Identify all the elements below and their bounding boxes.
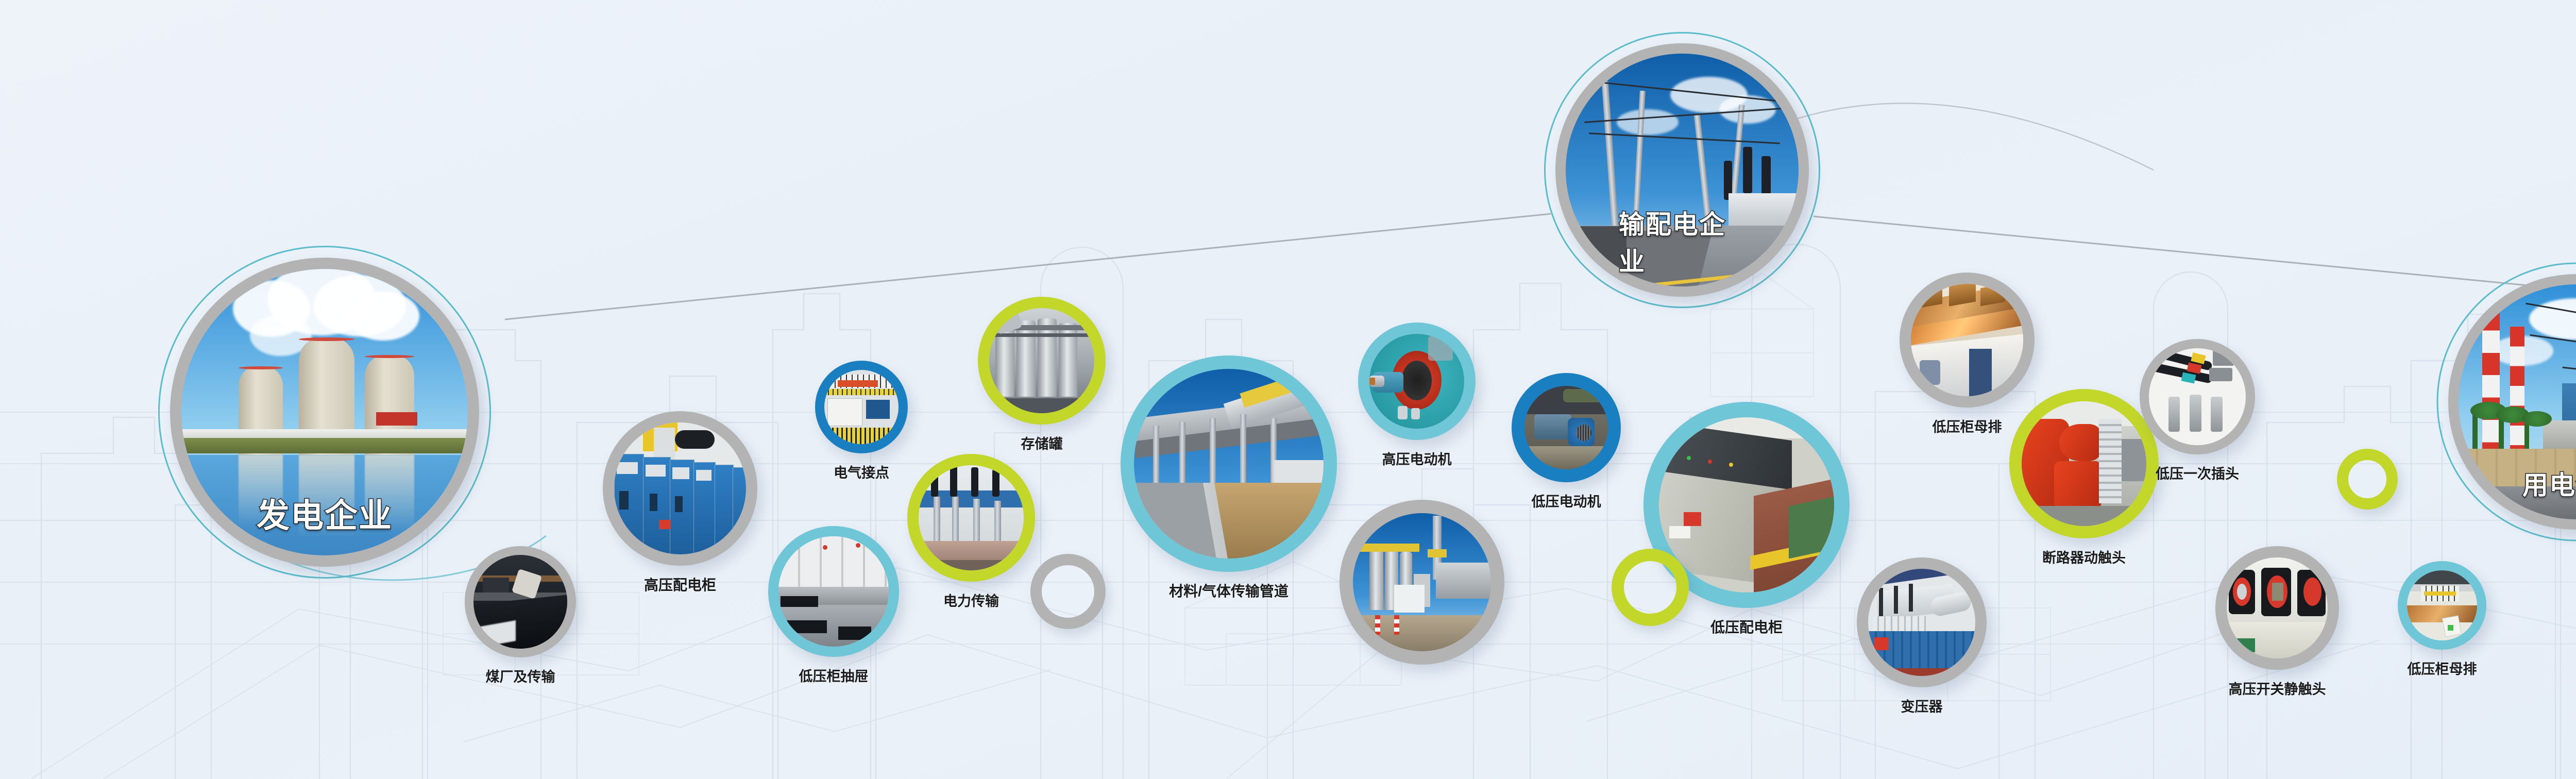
node-label: 变压器	[1901, 696, 1943, 716]
node-electrical-contact[interactable]: 电气接点	[815, 361, 908, 453]
photo-transformer-yard	[1868, 569, 1975, 676]
hero-disc[interactable]: 发电企业	[170, 258, 479, 567]
node-coal-plant-transport[interactable]: 煤厂及传输	[465, 546, 576, 657]
node-disc[interactable]	[815, 361, 908, 453]
hero-node-power-generation[interactable]: 发电企业	[170, 258, 479, 567]
node-disc[interactable]	[1121, 355, 1337, 572]
node-breaker-moving-contact[interactable]: 断路器动触头	[2009, 389, 2159, 538]
node-label: 低压柜母排	[1933, 416, 2002, 436]
node-label: 材料/气体传输管道	[1169, 580, 1289, 601]
hero-title-transmission-distribution: 输配电企业	[1619, 204, 1745, 278]
photo-terminal-block	[824, 370, 899, 444]
photo-busbar-strip	[2407, 570, 2477, 640]
photo-blue-cabinets	[614, 422, 746, 554]
node-chemical-plant[interactable]	[1340, 500, 1504, 665]
ring-shape	[1612, 549, 1689, 626]
node-hv-switch-static-contact[interactable]: 高压开关静触头	[2215, 546, 2339, 670]
photo-small-motor	[1524, 386, 1608, 469]
node-lv-cabinet-busbar-right[interactable]: 低压柜母排	[2398, 561, 2486, 650]
node-label: 高压开关静触头	[2229, 678, 2326, 698]
photo-red-breaker	[2022, 401, 2146, 526]
node-lv-motor[interactable]: 低压电动机	[1512, 373, 1621, 482]
node-label: 低压一次插头	[2156, 463, 2239, 483]
photo-lv-drawer	[778, 536, 889, 647]
node-lv-cabinet-drawer[interactable]: 低压柜抽屉	[768, 526, 899, 657]
node-disc[interactable]	[907, 454, 1035, 582]
node-disc[interactable]	[1340, 500, 1504, 665]
ring-shape	[2337, 449, 2398, 510]
hero-node-transmission-distribution[interactable]: 输配电企业	[1555, 43, 1809, 297]
photo-tanks	[989, 308, 1094, 413]
node-lv-cabinet-busbar-top[interactable]: 低压柜母排	[1900, 273, 2035, 408]
hero-node-power-consumer[interactable]: 用电企业	[2448, 274, 2576, 530]
decorative-ring-lime-mid	[1612, 549, 1689, 626]
node-label: 低压电动机	[1532, 490, 1601, 511]
hero-title-power-consumer: 用电企业	[2522, 465, 2576, 502]
node-disc[interactable]	[2009, 389, 2159, 538]
node-lv-primary-plug[interactable]: 低压一次插头	[2140, 339, 2255, 454]
photo-plug-parts	[2149, 348, 2246, 445]
node-hv-switchgear-cabinet[interactable]: 高压配电柜	[603, 411, 757, 566]
photo-pipe-rack	[1134, 369, 1324, 558]
photo-copper-bus	[1911, 284, 2023, 396]
photo-coal-conveyor	[473, 555, 567, 649]
node-label: 低压柜母排	[2408, 658, 2477, 678]
node-label: 电气接点	[834, 462, 889, 482]
node-transformer[interactable]: 变压器	[1857, 557, 1987, 687]
node-label: 低压配电柜	[1710, 616, 1783, 637]
ring-shape	[1030, 554, 1106, 629]
node-label: 断路器动触头	[2042, 547, 2126, 567]
node-label: 煤厂及传输	[486, 666, 555, 686]
node-storage-tank[interactable]: 存储罐	[978, 297, 1106, 425]
node-disc[interactable]	[1358, 323, 1476, 440]
node-disc[interactable]	[465, 546, 576, 657]
photo-static-contact	[2227, 557, 2328, 658]
node-disc[interactable]	[1512, 373, 1621, 482]
node-disc[interactable]	[2215, 546, 2339, 670]
node-disc[interactable]	[1900, 273, 2035, 408]
hero-disc[interactable]: 用电企业	[2448, 274, 2576, 530]
hero-disc[interactable]: 输配电企业	[1555, 43, 1809, 297]
node-disc[interactable]	[603, 411, 757, 566]
hero-title-power-generation: 发电企业	[257, 489, 393, 537]
node-label: 高压电动机	[1382, 448, 1452, 468]
decorative-ring-gray-left	[1030, 554, 1106, 629]
decorative-ring-lime-right	[2337, 449, 2398, 510]
node-label: 高压配电柜	[644, 574, 716, 595]
node-material-gas-pipeline[interactable]: 材料/气体传输管道	[1121, 355, 1337, 572]
photo-chem-plant	[1353, 513, 1491, 651]
node-label: 电力传输	[943, 590, 999, 610]
node-hv-motor[interactable]: 高压电动机	[1358, 323, 1476, 440]
node-disc[interactable]	[2140, 339, 2255, 454]
node-power-transmission[interactable]: 电力传输	[907, 454, 1035, 582]
node-label: 低压柜抽屉	[799, 665, 869, 685]
photo-big-motor	[1369, 334, 1464, 429]
node-label: 存储罐	[1021, 433, 1063, 453]
node-disc[interactable]	[768, 526, 899, 657]
node-disc[interactable]	[1857, 557, 1987, 687]
node-disc[interactable]	[2398, 561, 2486, 650]
infographic-canvas: 发电企业	[0, 0, 2576, 779]
photo-switchyard	[919, 465, 1024, 570]
node-disc[interactable]	[978, 297, 1106, 425]
